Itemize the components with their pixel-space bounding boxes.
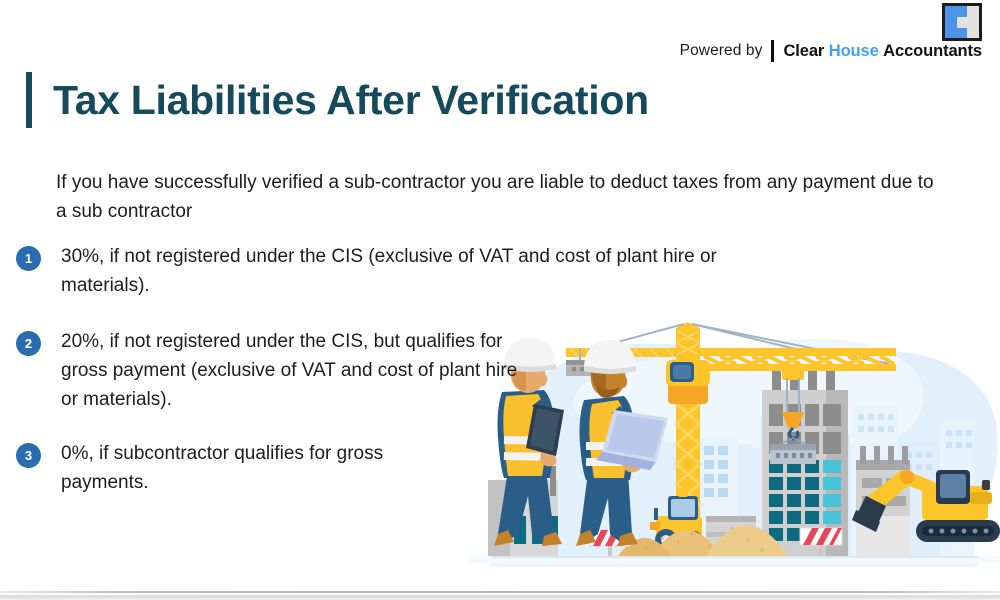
brand-name-last: Accountants: [883, 42, 982, 60]
list-item-text: 0%, if subcontractor qualifies for gross…: [61, 439, 461, 497]
brand-name-accent: House: [829, 42, 879, 60]
list-item: 1 30%, if not registered under the CIS (…: [16, 242, 746, 300]
brand-divider: [771, 40, 774, 62]
slide-bottom-edge-line: [0, 591, 1000, 593]
powered-by-label: Powered by: [680, 42, 763, 60]
construction-site-illustration: [470, 320, 1000, 582]
list-item-text: 20%, if not registered under the CIS, bu…: [61, 327, 531, 414]
logo-gray-middle: [957, 17, 979, 28]
construction-scene-svg: [470, 320, 1000, 582]
page-title-text: Tax Liabilities After Verification: [53, 80, 649, 121]
brand-name-first: Clear: [783, 42, 824, 60]
list-item-text: 30%, if not registered under the CIS (ex…: [61, 242, 741, 300]
intro-paragraph: If you have successfully verified a sub-…: [56, 168, 936, 226]
slide-canvas: Powered by Clear House Accountants Tax L…: [0, 0, 1000, 600]
brand-name: Clear House Accountants: [783, 42, 982, 61]
brand-attribution: Powered by Clear House Accountants: [680, 38, 982, 64]
clear-house-logo-icon: [942, 3, 982, 41]
logo-blue-top: [945, 6, 967, 17]
logo-inner: [945, 6, 979, 38]
title-accent-bar: [26, 72, 32, 128]
list-number-badge: 1: [16, 246, 41, 271]
logo-blue-bottom: [945, 27, 967, 38]
list-number-badge: 3: [16, 443, 41, 468]
list-number-badge: 2: [16, 331, 41, 356]
page-title: Tax Liabilities After Verification: [26, 72, 649, 128]
